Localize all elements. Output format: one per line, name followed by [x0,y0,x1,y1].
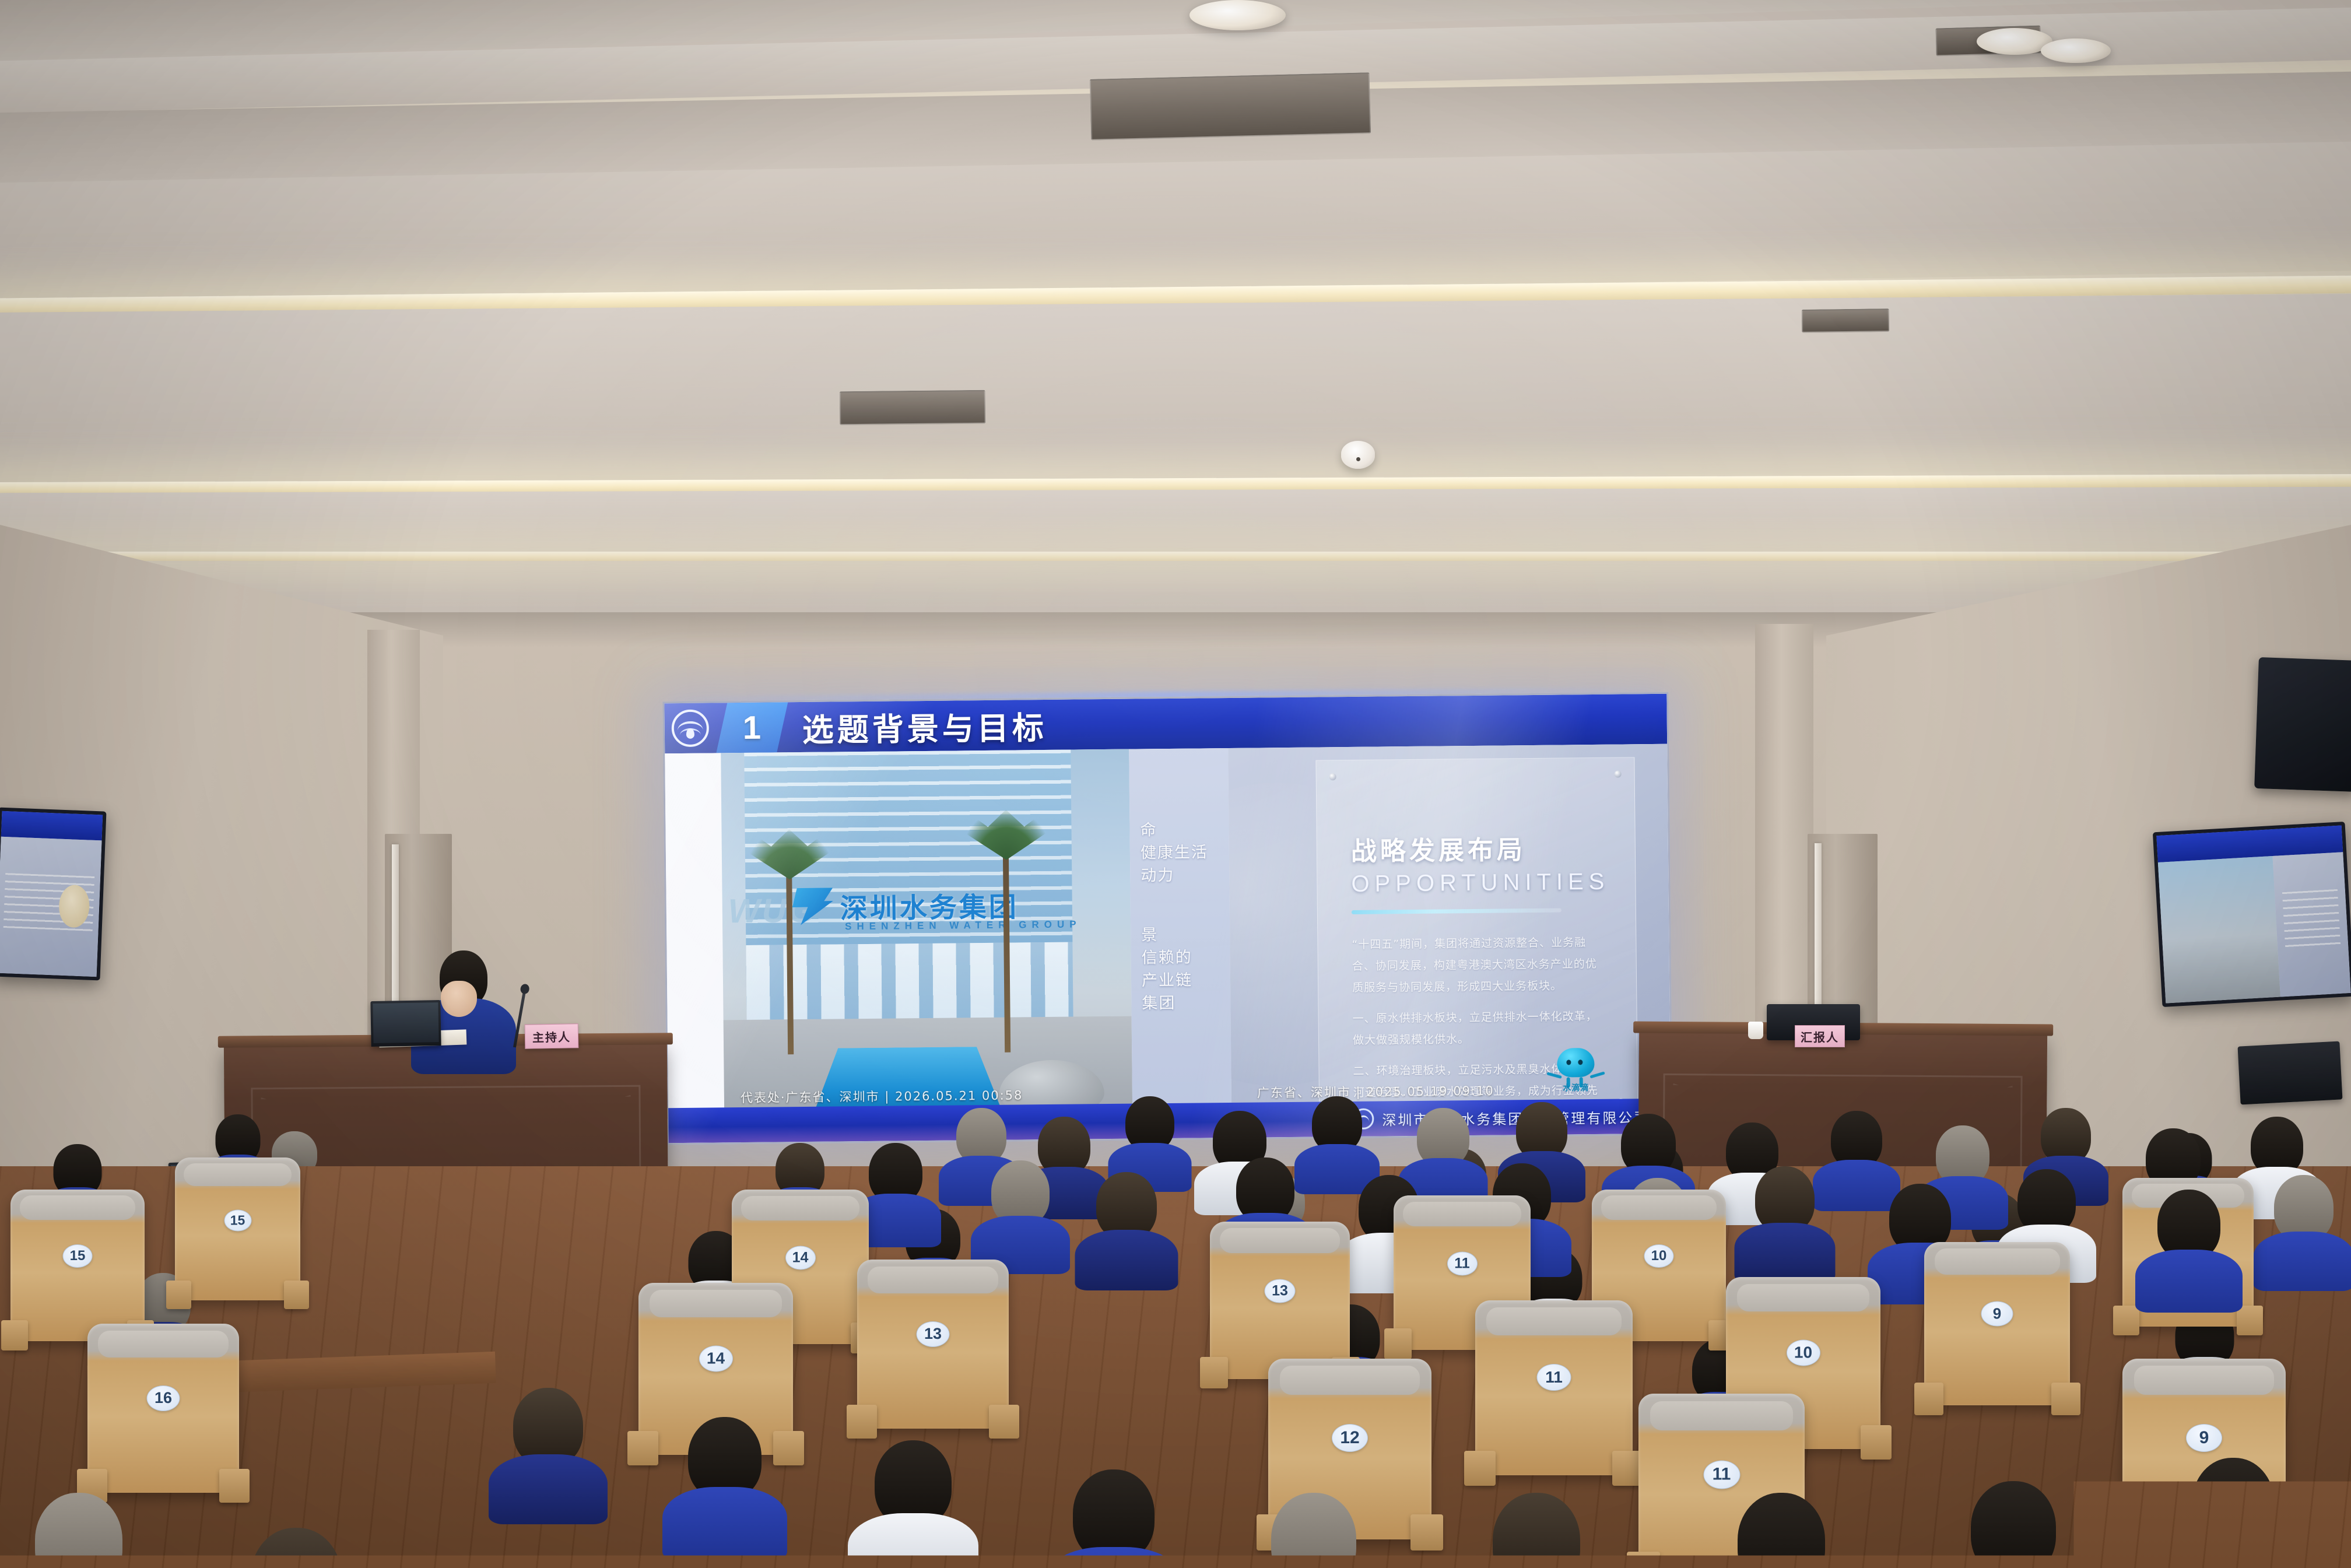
vertical-text-line-a: 命 健康生活 动力 [1140,818,1208,888]
presenter-face [441,981,477,1017]
seat-number-badge: 9 [2186,1424,2222,1452]
seat-armrest-right [1861,1425,1892,1460]
slide-building-photo: WUG 深圳水务集团 SHENZHEN WATER GROUP [721,749,1132,1143]
person-torso [848,1513,978,1568]
auditorium-seat[interactable]: 11 [1475,1300,1633,1475]
seat-armrest-left [1627,1552,1660,1568]
smoke-detector-icon [1341,441,1375,469]
conference-hall-photo: 1 选题背景与目标 WUG 深圳水务集团 SHENZHEN WATER GROU… [0,0,2351,1568]
seat-number-badge: 11 [1703,1460,1740,1489]
audience-person [1271,1493,1356,1568]
seat-armrest-left [166,1281,191,1309]
seat-number-badge: 11 [1537,1364,1571,1391]
seat-armrest-left [2111,1514,2143,1551]
audience-person [1312,1096,1362,1187]
seat-headrest [20,1195,135,1220]
seat-armrest-right [773,1431,804,1465]
audience-person [1493,1493,1580,1568]
ceiling-spotlight-1 [1189,0,1286,30]
seat-headrest [741,1196,859,1220]
person-torso [1813,1160,1900,1211]
audience-person [1125,1096,1174,1184]
seat-headrest [98,1331,229,1357]
seat-armrest-right [2051,1383,2080,1415]
card-pin-top-right [1615,771,1622,778]
building-sign-english: SHENZHEN WATER GROUP [845,918,1082,932]
seat-armrest-left [1914,1383,1943,1415]
seat-number-badge: 13 [917,1321,950,1347]
slide-title: 选题背景与目标 [802,701,1047,750]
av-equipment-box [2238,1041,2343,1104]
audience-person [2274,1175,2334,1282]
seat-headrest [1650,1401,1793,1430]
seat-headrest [868,1267,998,1293]
audience-person [1073,1469,1155,1568]
opportunities-heading-chinese: 战略发展布局 [1351,828,1602,868]
opportunities-heading-english: OPPORTUNITIES [1351,869,1601,897]
seat-number-badge: 16 [147,1385,180,1411]
person-torso [1735,1223,1836,1282]
audience-person [1971,1481,2056,1568]
right-podium-namecard[interactable]: 汇报人 [1795,1025,1845,1047]
card-pin-top-left [1329,773,1336,780]
seat-headrest [1486,1307,1622,1335]
person-head [1493,1493,1580,1568]
ceiling-vent-grille-4 [1802,308,1889,333]
person-head [1971,1481,2056,1568]
audience-person [2157,1190,2220,1303]
seat-number-badge: 11 [1447,1251,1478,1275]
auditorium-seat[interactable]: 15 [175,1157,300,1300]
seat-headrest [1935,1248,2060,1275]
ceiling-plane-2 [0,294,2351,488]
water-group-logo-icon [672,710,710,748]
audience-person [1831,1111,1882,1203]
vertical-text-line-b: 景 信赖的 产业链 集团 [1141,924,1192,1015]
person-torso [489,1454,608,1524]
seat-number-badge: 10 [1644,1244,1674,1268]
presenter-laptop [370,1000,441,1047]
opportunities-underline [1352,908,1562,914]
projection-screen: 1 选题背景与目标 WUG 深圳水务集团 SHENZHEN WATER GROU… [662,692,1672,1145]
person-torso [1075,1230,1178,1290]
audience-person [875,1440,952,1568]
audience-person [1096,1172,1157,1281]
person-head [1271,1493,1356,1568]
cove-light-4 [0,552,2351,561]
seat-number-badge: 14 [699,1345,733,1371]
seat-armrest-left [1,1320,28,1350]
seat-number-badge: 10 [1787,1339,1820,1366]
seat-headrest [1220,1228,1340,1253]
mascot-label: 水滴滴 [1552,1082,1601,1094]
audience-person [688,1417,762,1549]
slide-section-number-badge: 1 [716,702,788,753]
opportunities-paragraph-1: “十四五”期间，集团将通过资源整合、业务融合、协同发展，构建粤港澳大湾区水务产业… [1352,932,1602,999]
seat-armrest-right [219,1469,250,1503]
person-torso [2135,1250,2243,1313]
auditorium-seat[interactable]: 16 [87,1324,239,1493]
seat-headrest [184,1163,292,1186]
water-drop-mark-icon [792,888,833,925]
seat-headrest [1601,1195,1717,1220]
seat-headrest [2134,1366,2275,1395]
auditorium-seat[interactable]: 13 [857,1260,1009,1429]
water-drop-mascot-icon: 水滴滴 [1551,1048,1601,1092]
seat-armrest-right [284,1281,309,1309]
person-head [35,1493,122,1568]
wall-mounted-speaker [2254,657,2351,792]
seat-headrest [1737,1284,1870,1311]
audience-person [1417,1108,1469,1202]
slide-opportunities-panel: 战略发展布局 OPPORTUNITIES “十四五”期间，集团将通过资源整合、业… [1228,744,1671,1138]
seat-headrest [650,1290,783,1317]
auditorium-seat[interactable]: 9 [1924,1242,2070,1405]
person-torso [2254,1232,2351,1291]
left-wall-monitor [0,808,106,981]
seat-number-badge: 15 [63,1244,93,1268]
audience-person [869,1143,922,1240]
audience-person [2192,1458,2274,1568]
slide-vertical-text-panel: 命 健康生活 动力 景 信赖的 产业链 集团 [1129,748,1231,1139]
ceiling-vent-grille-1 [1090,72,1371,141]
seat-armrest-right [2237,1306,2263,1335]
audience-person [251,1528,342,1568]
seat-armrest-left [1200,1357,1228,1388]
opportunities-paragraph-2: 一、原水供排水板块，立足供排水一体化改革，做大做强规模化供水。 [1352,1006,1603,1051]
podium-namecard[interactable]: 主持人 [525,1023,579,1049]
right-podium-namecard-text: 汇报人 [1801,1028,1839,1045]
seat-armrest-left [627,1431,658,1465]
slide-header-bar: 1 选题背景与目标 [664,694,1667,753]
right-wall-monitor [2153,822,2351,1007]
audience-person [513,1388,583,1514]
seat-armrest-right [1410,1514,1443,1551]
ceiling-spotlight-3 [2041,38,2111,63]
seat-headrest [1403,1202,1521,1226]
audience-person [1755,1166,1815,1274]
slide-body: WUG 深圳水务集团 SHENZHEN WATER GROUP 命 健康生活 动… [665,744,1671,1143]
person-torso [662,1487,787,1560]
person-head [1738,1493,1825,1568]
ceiling-vent-grille-2 [840,390,986,426]
seat-number-badge: 13 [1265,1279,1296,1303]
slide-left-gutter [665,753,724,1143]
seat-number-badge: 15 [224,1209,251,1231]
right-podium-cup [1748,1022,1763,1039]
auditorium-seat[interactable]: 13 [1210,1222,1350,1379]
opportunities-body-text: “十四五”期间，集团将通过资源整合、业务融合、协同发展，构建粤港澳大湾区水务产业… [1352,932,1603,1125]
seat-armrest-left [1384,1328,1412,1359]
audience-person [991,1160,1050,1265]
seat-number-badge: 14 [785,1246,816,1269]
seat-number-badge: 9 [1981,1302,2013,1327]
seat-armrest-left [2113,1306,2139,1335]
person-head [251,1528,342,1568]
audience-person [1738,1493,1825,1568]
seat-number-badge: 12 [1332,1424,1368,1452]
seat-armrest-right [989,1405,1019,1439]
audience-person [35,1493,122,1568]
seat-headrest [1280,1366,1420,1395]
seat-armrest-left [1464,1451,1496,1486]
seat-armrest-left [847,1405,877,1439]
slide-section-number: 1 [743,711,762,744]
auditorium-seat[interactable]: 15 [10,1190,145,1341]
podium-namecard-text: 主持人 [532,1027,571,1045]
